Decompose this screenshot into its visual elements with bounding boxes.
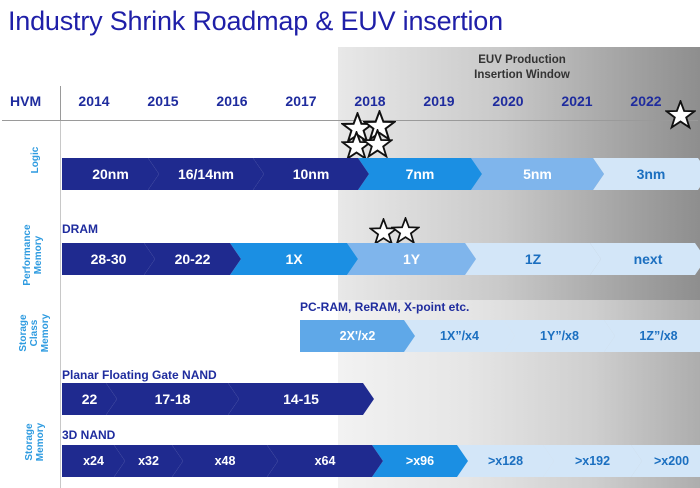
- segment-scm-2[interactable]: 1Y”/x8: [504, 320, 615, 352]
- segment-dram-1[interactable]: 20-22: [144, 243, 241, 275]
- segment-planar-0[interactable]: 22: [62, 383, 117, 415]
- bar-row-scm: 2X'/x21X”/x41Y”/x81Z”/x8: [300, 320, 700, 352]
- segment-logic-1[interactable]: 16/14nm: [148, 158, 264, 190]
- year-2017: 2017: [273, 93, 329, 109]
- segment-dram-0[interactable]: 28-30: [62, 243, 155, 275]
- bar-row-planar: 2217-1814-15: [62, 383, 363, 415]
- bar-row-dram: 28-3020-221X1Y1Znext: [62, 243, 695, 275]
- caption-3d-nand: 3D NAND: [62, 428, 115, 442]
- segment-logic-4[interactable]: 5nm: [471, 158, 604, 190]
- segment-nand3d-4[interactable]: >x96: [372, 445, 468, 477]
- row-label-logic: Logic: [30, 125, 41, 195]
- row-label-perf: PerformanceMemory: [22, 210, 44, 300]
- bar-row-logic: 20nm16/14nm10nm7nm5nm3nm: [62, 158, 698, 190]
- euv-window-label-line2: Insertion Window: [372, 68, 672, 83]
- row-label-storage: StorageMemory: [24, 402, 46, 482]
- year-2021: 2021: [549, 93, 605, 109]
- row-label-scm: StorageClassMemory: [18, 294, 51, 372]
- segment-logic-5[interactable]: 3nm: [593, 158, 700, 190]
- star-logic-2018-4: [362, 129, 393, 160]
- segment-dram-3[interactable]: 1Y: [347, 243, 476, 275]
- roadmap-diagram: Industry Shrink Roadmap & EUV insertion …: [0, 0, 700, 488]
- year-2019: 2019: [411, 93, 467, 109]
- segment-logic-3[interactable]: 7nm: [358, 158, 482, 190]
- segment-logic-2[interactable]: 10nm: [253, 158, 369, 190]
- segment-nand3d-3[interactable]: x64: [267, 445, 383, 477]
- segment-planar-1[interactable]: 17-18: [106, 383, 239, 415]
- star-header-2022: [665, 100, 696, 131]
- star-dram-1y-2: [391, 217, 420, 246]
- year-2014: 2014: [66, 93, 122, 109]
- segment-nand3d-0[interactable]: x24: [62, 445, 125, 477]
- segment-logic-0[interactable]: 20nm: [62, 158, 159, 190]
- segment-nand3d-5[interactable]: >x128: [457, 445, 554, 477]
- year-2020: 2020: [480, 93, 536, 109]
- euv-window-label-line1: EUV Production: [372, 53, 672, 68]
- caption-dram: DRAM: [62, 222, 98, 236]
- segment-scm-3[interactable]: 1Z”/x8: [604, 320, 700, 352]
- caption-planar-nand: Planar Floating Gate NAND: [62, 368, 217, 382]
- euv-window-label: EUV Production Insertion Window: [372, 53, 672, 83]
- page-title: Industry Shrink Roadmap & EUV insertion: [8, 6, 503, 37]
- segment-planar-2[interactable]: 14-15: [228, 383, 374, 415]
- segment-scm-1[interactable]: 1X”/x4: [404, 320, 515, 352]
- year-2018: 2018: [342, 93, 398, 109]
- header-divider: [60, 86, 61, 120]
- bar-row-nand3d: x24x32x48x64>x96>x128>x192>x200: [62, 445, 700, 477]
- segment-dram-4[interactable]: 1Z: [465, 243, 601, 275]
- hvm-label: HVM: [10, 93, 41, 109]
- segment-dram-2[interactable]: 1X: [230, 243, 358, 275]
- year-2016: 2016: [204, 93, 260, 109]
- row-divider: [60, 120, 61, 488]
- caption-scm: PC-RAM, ReRAM, X-point etc.: [300, 300, 469, 314]
- segment-nand3d-6[interactable]: >x192: [543, 445, 642, 477]
- segment-nand3d-2[interactable]: x48: [172, 445, 278, 477]
- year-2015: 2015: [135, 93, 191, 109]
- segment-dram-5[interactable]: next: [590, 243, 700, 275]
- segment-scm-0[interactable]: 2X'/x2: [300, 320, 415, 352]
